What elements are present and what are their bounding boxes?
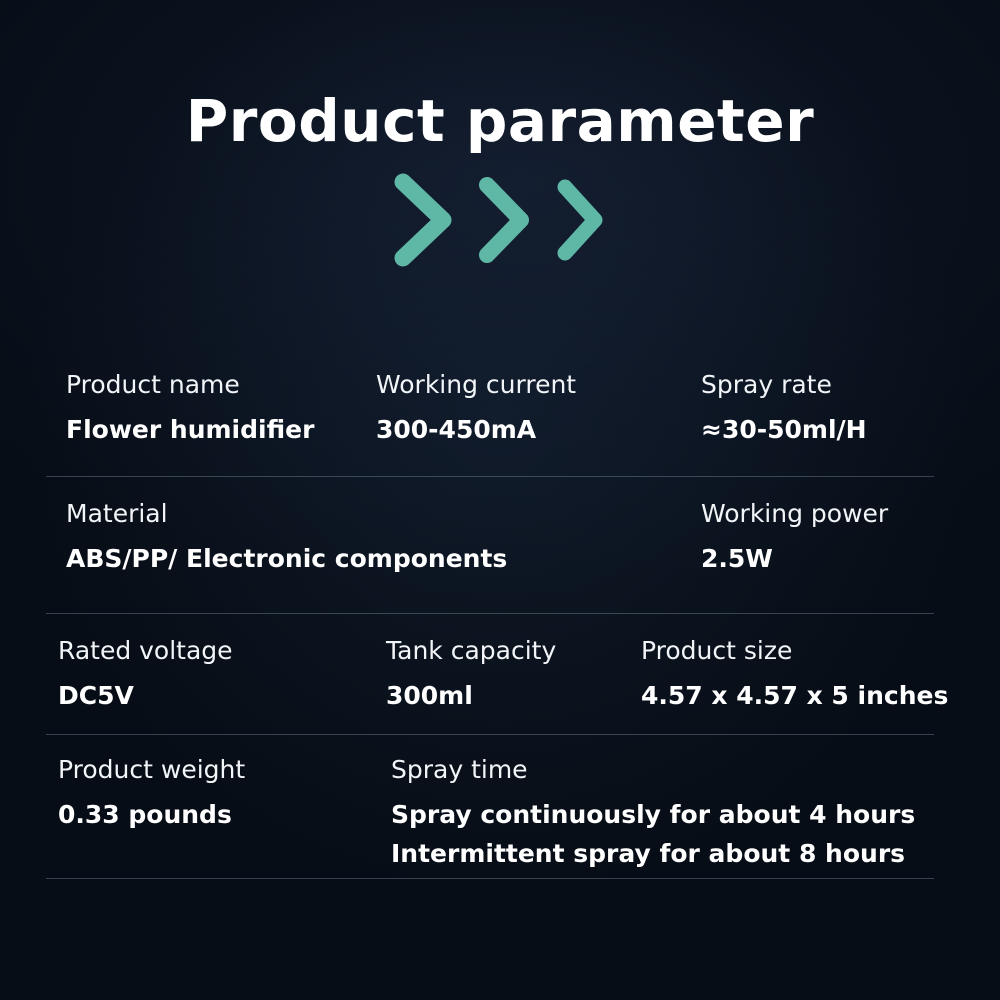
spec-label: Tank capacity — [386, 634, 629, 668]
spec-label: Product name — [66, 368, 364, 402]
spec-value: DC5V — [58, 679, 374, 713]
spec-cell-spray-time: Spray time Spray continuously for about … — [391, 753, 934, 870]
spec-value: ABS/PP/ Electronic components — [66, 542, 689, 576]
spec-label: Working current — [376, 368, 689, 402]
spec-cell-product-weight: Product weight 0.33 pounds — [46, 753, 391, 832]
spec-label: Working power — [701, 497, 922, 531]
spec-label: Product size — [641, 634, 922, 668]
spec-value: 300-450mA — [376, 413, 689, 447]
spec-label: Rated voltage — [58, 634, 374, 668]
spec-value-line: Spray continuously for about 4 hours — [391, 798, 922, 832]
product-parameter-page: Product parameter Product name Flower hu… — [0, 0, 1000, 1000]
spec-value: 4.57 x 4.57 x 5 inches — [641, 679, 922, 713]
spec-table: Product name Flower humidifier Working c… — [46, 368, 934, 879]
spec-cell-material: Material ABS/PP/ Electronic components — [46, 497, 701, 576]
table-row: Material ABS/PP/ Electronic components W… — [46, 497, 934, 614]
table-row: Product name Flower humidifier Working c… — [46, 368, 934, 477]
spec-value: 2.5W — [701, 542, 922, 576]
spec-value: Flower humidifier — [66, 413, 364, 447]
chevron-right-icon-3 — [555, 177, 607, 263]
spec-value: 300ml — [386, 679, 629, 713]
spec-cell-rated-voltage: Rated voltage DC5V — [46, 634, 386, 713]
spec-cell-spray-rate: Spray rate ≈30-50ml/H — [701, 368, 934, 447]
spec-label: Spray rate — [701, 368, 922, 402]
spec-label: Material — [66, 497, 689, 531]
table-row: Rated voltage DC5V Tank capacity 300ml P… — [46, 634, 934, 735]
spec-cell-working-current: Working current 300-450mA — [376, 368, 701, 447]
spec-cell-product-size: Product size 4.57 x 4.57 x 5 inches — [641, 634, 934, 713]
spec-value: Spray continuously for about 4 hours Int… — [391, 798, 922, 871]
spec-cell-tank-capacity: Tank capacity 300ml — [386, 634, 641, 713]
spec-label: Product weight — [58, 753, 379, 787]
spec-cell-product-name: Product name Flower humidifier — [46, 368, 376, 447]
spec-value-line: Intermittent spray for about 8 hours — [391, 837, 922, 871]
chevron-right-icon-1 — [393, 172, 455, 268]
chevron-row — [0, 172, 1000, 268]
spec-value: ≈30-50ml/H — [701, 413, 922, 447]
spec-label: Spray time — [391, 753, 922, 787]
page-title: Product parameter — [0, 90, 1000, 154]
spec-cell-working-power: Working power 2.5W — [701, 497, 934, 576]
chevron-right-icon-2 — [477, 175, 533, 265]
spec-value: 0.33 pounds — [58, 798, 379, 832]
table-row: Product weight 0.33 pounds Spray time Sp… — [46, 753, 934, 879]
